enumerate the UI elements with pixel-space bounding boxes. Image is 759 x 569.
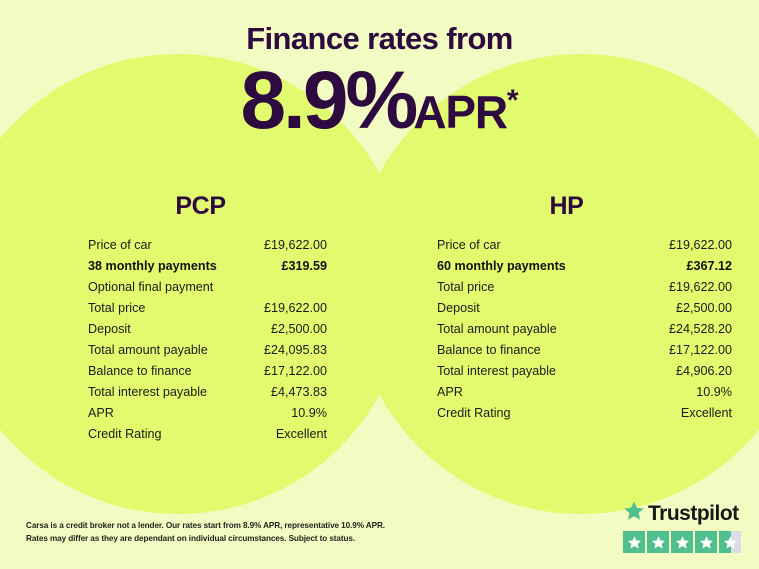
row-value: £319.59 <box>281 256 327 277</box>
row-label: Total amount payable <box>88 340 208 361</box>
row-label: Optional final payment <box>88 277 213 298</box>
row-label: Price of car <box>437 235 501 256</box>
star-icon <box>623 500 645 527</box>
table-row: Deposit£2,500.00 <box>88 319 327 340</box>
row-label: Price of car <box>88 235 152 256</box>
row-value: £2,500.00 <box>271 319 327 340</box>
row-label: Balance to finance <box>437 340 541 361</box>
row-value: £19,622.00 <box>264 235 327 256</box>
rate-value: 8.9% <box>240 62 415 140</box>
row-label: Balance to finance <box>88 361 192 382</box>
table-row: Price of car£19,622.00 <box>88 235 327 256</box>
row-label: Total amount payable <box>437 319 557 340</box>
row-label: Credit Rating <box>88 424 162 445</box>
row-value: £19,622.00 <box>669 277 732 298</box>
row-label: Total price <box>88 298 145 319</box>
table-row: Total amount payable£24,528.20 <box>437 319 732 340</box>
row-value: £17,122.00 <box>669 340 732 361</box>
headline-rate: 8.9% APR * <box>0 62 759 140</box>
rating-star-icon <box>719 531 741 553</box>
row-value: £19,622.00 <box>264 298 327 319</box>
panel-hp: HP Price of car£19,622.0060 monthly paym… <box>379 192 758 445</box>
rating-star-icon <box>623 531 645 553</box>
row-value: £24,095.83 <box>264 340 327 361</box>
row-label: APR <box>88 403 114 424</box>
row-value: Excellent <box>276 424 327 445</box>
table-row: Price of car£19,622.00 <box>437 235 732 256</box>
asterisk-marker: * <box>507 86 519 116</box>
row-value: £2,500.00 <box>676 298 732 319</box>
row-value: £4,906.20 <box>676 361 732 382</box>
finance-rates-poster: Finance rates from 8.9% APR * PCP Price … <box>0 0 759 569</box>
rating-star-icon <box>671 531 693 553</box>
table-row: Optional final payment <box>88 277 327 298</box>
table-row: Total interest payable£4,473.83 <box>88 382 327 403</box>
table-row: Balance to finance£17,122.00 <box>88 361 327 382</box>
disclaimer: Carsa is a credit broker not a lender. O… <box>26 519 456 545</box>
row-value: Excellent <box>681 403 732 424</box>
row-value: £17,122.00 <box>264 361 327 382</box>
panel-title-hp: HP <box>437 192 732 221</box>
table-row: 60 monthly payments£367.12 <box>437 256 732 277</box>
disclaimer-line-1: Carsa is a credit broker not a lender. O… <box>26 519 456 532</box>
row-label: 38 monthly payments <box>88 256 217 277</box>
trustpilot-name: Trustpilot <box>648 503 739 524</box>
page-title: Finance rates from <box>0 0 759 56</box>
row-value: £367.12 <box>686 256 732 277</box>
row-label: Deposit <box>88 319 131 340</box>
panel-title-pcp: PCP <box>88 192 327 221</box>
table-row: Balance to finance£17,122.00 <box>437 340 732 361</box>
row-value: £4,473.83 <box>271 382 327 403</box>
table-hp: Price of car£19,622.0060 monthly payment… <box>437 235 732 424</box>
trustpilot-rating-stars <box>623 531 741 553</box>
table-row: Deposit£2,500.00 <box>437 298 732 319</box>
row-label: Total interest payable <box>88 382 207 403</box>
table-row: Credit RatingExcellent <box>88 424 327 445</box>
trustpilot-wordmark: Trustpilot <box>623 500 741 527</box>
row-label: Credit Rating <box>437 403 511 424</box>
table-row: Credit RatingExcellent <box>437 403 732 424</box>
table-row: APR10.9% <box>88 403 327 424</box>
table-pcp: Price of car£19,622.0038 monthly payment… <box>88 235 327 445</box>
table-row: Total price£19,622.00 <box>88 298 327 319</box>
finance-panels: PCP Price of car£19,622.0038 monthly pay… <box>0 192 759 445</box>
row-value: 10.9% <box>291 403 327 424</box>
row-value: £19,622.00 <box>669 235 732 256</box>
trustpilot-badge[interactable]: Trustpilot <box>623 500 741 553</box>
rating-star-icon <box>647 531 669 553</box>
row-value: 10.9% <box>696 382 732 403</box>
table-row: 38 monthly payments£319.59 <box>88 256 327 277</box>
row-label: Total price <box>437 277 494 298</box>
table-row: Total interest payable£4,906.20 <box>437 361 732 382</box>
table-row: Total amount payable£24,095.83 <box>88 340 327 361</box>
disclaimer-line-2: Rates may differ as they are dependant o… <box>26 532 456 545</box>
table-row: Total price£19,622.00 <box>437 277 732 298</box>
row-label: APR <box>437 382 463 403</box>
table-row: APR10.9% <box>437 382 732 403</box>
rating-star-icon <box>695 531 717 553</box>
row-label: Deposit <box>437 298 480 319</box>
row-label: Total interest payable <box>437 361 556 382</box>
poster-header: Finance rates from 8.9% APR * <box>0 0 759 140</box>
panel-pcp: PCP Price of car£19,622.0038 monthly pay… <box>0 192 379 445</box>
rate-apr-label: APR <box>413 89 507 135</box>
row-label: 60 monthly payments <box>437 256 566 277</box>
row-value: £24,528.20 <box>669 319 732 340</box>
